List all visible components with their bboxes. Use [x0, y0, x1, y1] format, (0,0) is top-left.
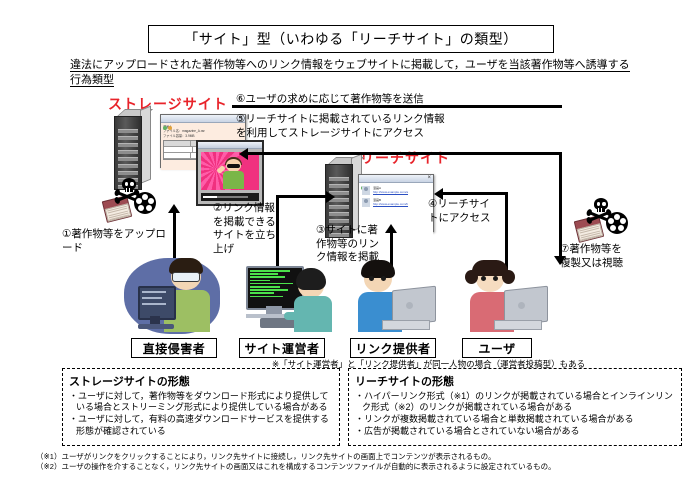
pirated-content-icon [576, 198, 634, 244]
step-7-caption: ⑦著作物等を 複製又は視聴 [560, 243, 623, 270]
thumbnail-icon [362, 186, 370, 195]
role-label-link-provider: リンク提供者 [350, 338, 436, 358]
video-playback-bar[interactable] [201, 193, 259, 201]
file-size: ファイル容量：3.9MB [163, 134, 243, 138]
reach-site-label: リーチサイト [360, 148, 450, 168]
window-titlebar: × [161, 115, 245, 123]
step-1-caption: ①著作物等をアップロード [62, 228, 168, 255]
step-2-caption: ②リンク情報 を掲載できる サイトを立ち 上げ [213, 202, 276, 256]
close-icon[interactable]: × [427, 175, 431, 182]
list-item: ・広告が掲載されている場合とされていない場合がある [355, 426, 675, 437]
arrow-step-2-head [326, 191, 335, 203]
window-titlebar: × [359, 175, 433, 183]
list-item: ・ハイパーリンク形式（※1）のリンクが掲載されている場合とインラインリンク形式（… [355, 391, 675, 414]
list-item: ・ユーザに対して，有料の高速ダウンロードサービスを提供する形態が確認されている [69, 414, 333, 437]
window-dots-icon [163, 117, 173, 135]
arrow-step-4-horizontal [443, 192, 508, 195]
pirated-content-icon [104, 178, 162, 224]
footnote-1: （※1）ユーザがリンクをクリックすることにより，リンク先サイトに接続し，リンク先… [36, 452, 676, 462]
person-site-operator [240, 260, 336, 338]
role-label-site-operator: サイト運営者 [239, 338, 325, 358]
step-5-caption: ⑤リーチサイトに掲載されているリンク情報 を利用してストレージサイトにアクセス [236, 113, 445, 140]
arrow-step-5-horizontal [248, 152, 562, 155]
film-reel-icon [134, 192, 156, 214]
reach-site-form-box: リーチサイトの形態 ・ハイパーリンク形式（※1）のリンクが掲載されている場合とイ… [348, 368, 682, 446]
list-item[interactable]: 漫画B http://www.example.com/b [362, 198, 430, 207]
storage-site-form-box: ストレージサイトの形態 ・ユーザに対して，著作物等をダウンロード形式により提供し… [62, 368, 340, 446]
page-subtitle-text: 違法にアップロードされた著作物等へのリンク情報をウェブサイトに掲載して，ユーザを… [70, 59, 630, 87]
person-direct-infringer [124, 252, 220, 336]
page-title: 「サイト」型（いわゆる「リーチサイト」の類型） [184, 29, 518, 49]
link-url[interactable]: http://www.example.com/b [373, 202, 430, 206]
footnotes: （※1）ユーザがリンクをクリックすることにより，リンク先サイトに接続し，リンク先… [36, 452, 676, 472]
person-link-provider [352, 258, 440, 338]
video-window-titlebar [198, 142, 262, 149]
arrow-step-2-horizontal [276, 195, 328, 198]
role-label-direct-infringer: 直接侵害者 [131, 338, 217, 358]
reach-form-list: ・ハイパーリンク形式（※1）のリンクが掲載されている場合とインラインリンク形式（… [349, 391, 681, 438]
step-4-caption: ④リーチサイ トにアクセス [428, 198, 490, 225]
storage-form-list: ・ユーザに対して，著作物等をダウンロード形式により提供している場合とストリーミン… [63, 391, 339, 437]
role-label-user: ユーザ [462, 338, 532, 358]
page-title-box: 「サイト」型（いわゆる「リーチサイト」の類型） [148, 25, 554, 53]
arrow-step-1-head [168, 204, 180, 213]
link-url[interactable]: http://www.example.com/a [373, 190, 430, 194]
reach-form-heading: リーチサイトの形態 [355, 373, 681, 389]
person-user [462, 258, 550, 338]
storage-form-heading: ストレージサイトの形態 [69, 373, 339, 389]
film-reel-icon [606, 212, 628, 234]
storage-server-icon [114, 110, 148, 188]
step-6-caption: ⑥ユーザの求めに応じて著作物等を送信 [236, 93, 424, 107]
list-item[interactable]: 漫画A http://www.example.com/a [362, 186, 430, 195]
list-item: ・リンクが複数掲載されている場合と単数掲載されている場合がある [355, 414, 675, 425]
footnote-2: （※2）ユーザの操作を介することなく，リンク先サイトの画面又はこれを構成するコン… [36, 462, 676, 472]
arrow-step-3-head [385, 224, 397, 233]
arrow-step-5-head [239, 148, 248, 160]
storage-video-preview-window [196, 140, 264, 206]
list-item: ・ユーザに対して，著作物等をダウンロード形式により提供している場合とストリーミン… [69, 391, 333, 414]
page-subtitle: 違法にアップロードされた著作物等へのリンク情報をウェブサイトに掲載して，ユーザを… [70, 58, 636, 88]
video-thumbnail [201, 152, 259, 190]
thumbnail-icon [362, 198, 370, 207]
